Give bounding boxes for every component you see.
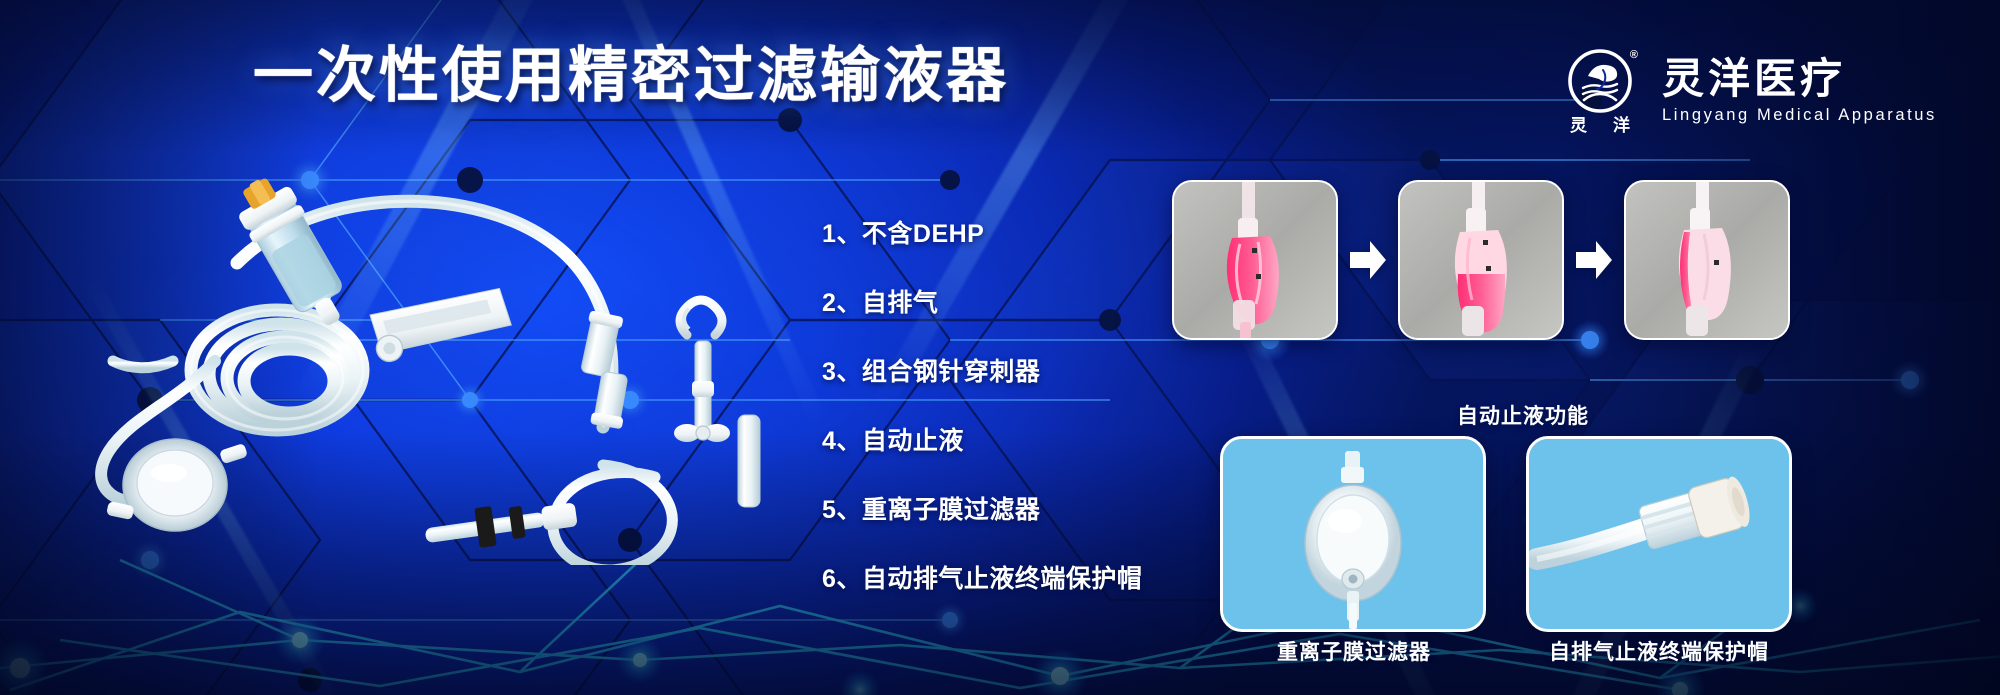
sequence-arrow-2 (1564, 239, 1624, 281)
detail-panels (1220, 436, 1792, 632)
feature-item: 1、不含DEHP (822, 222, 1142, 247)
company-name-en: Lingyang Medical Apparatus (1662, 106, 1937, 125)
brand-logo[interactable]: ® 灵 洋 灵洋医疗 Lingyang Medical Apparatus (1552, 48, 1937, 134)
feature-item: 3、组合钢针穿刺器 (822, 360, 1142, 385)
arrow-right-icon (1574, 239, 1614, 281)
self-venting-terminal-cap-caption: 自排气止液终端保护帽 (1549, 636, 1769, 666)
auto-stop-step-1-photo (1172, 180, 1338, 340)
iv-infusion-set-photo (55, 165, 775, 565)
logo-char-yang: 洋 (1613, 117, 1630, 134)
registered-trademark-icon: ® (1630, 49, 1638, 61)
logo-mark: ® 灵 洋 (1552, 48, 1648, 134)
company-name-cn: 灵洋医疗 (1662, 57, 1937, 101)
sequence-arrow-1 (1338, 239, 1398, 281)
feature-list: 1、不含DEHP 2、自排气 3、组合钢针穿刺器 4、自动止液 5、重离子膜过滤… (822, 222, 1142, 592)
feature-item: 5、重离子膜过滤器 (822, 498, 1142, 523)
arrow-right-icon (1348, 239, 1388, 281)
page-title: 一次性使用精密过滤输液器 (253, 46, 1009, 106)
feature-item: 2、自排气 (822, 291, 1142, 316)
auto-stop-sequence (1172, 180, 1790, 340)
auto-stop-step-2-photo (1398, 180, 1564, 340)
feature-item: 4、自动止液 (822, 429, 1142, 454)
logo-char-ling: 灵 (1570, 117, 1587, 134)
banner-root: 一次性使用精密过滤输液器 ® 灵 洋 灵洋医疗 Lingya (0, 0, 2000, 695)
heavy-ion-membrane-filter-caption: 重离子膜过滤器 (1277, 636, 1431, 666)
lingyang-circular-emblem-icon: ® (1567, 48, 1633, 114)
heavy-ion-membrane-filter-photo (1220, 436, 1486, 632)
logo-wordmark: 灵洋医疗 Lingyang Medical Apparatus (1662, 57, 1937, 125)
auto-stop-caption: 自动止液功能 (1457, 400, 1589, 430)
feature-item: 6、自动排气止液终端保护帽 (822, 567, 1142, 592)
self-venting-terminal-cap-photo (1526, 436, 1792, 632)
auto-stop-step-3-photo (1624, 180, 1790, 340)
